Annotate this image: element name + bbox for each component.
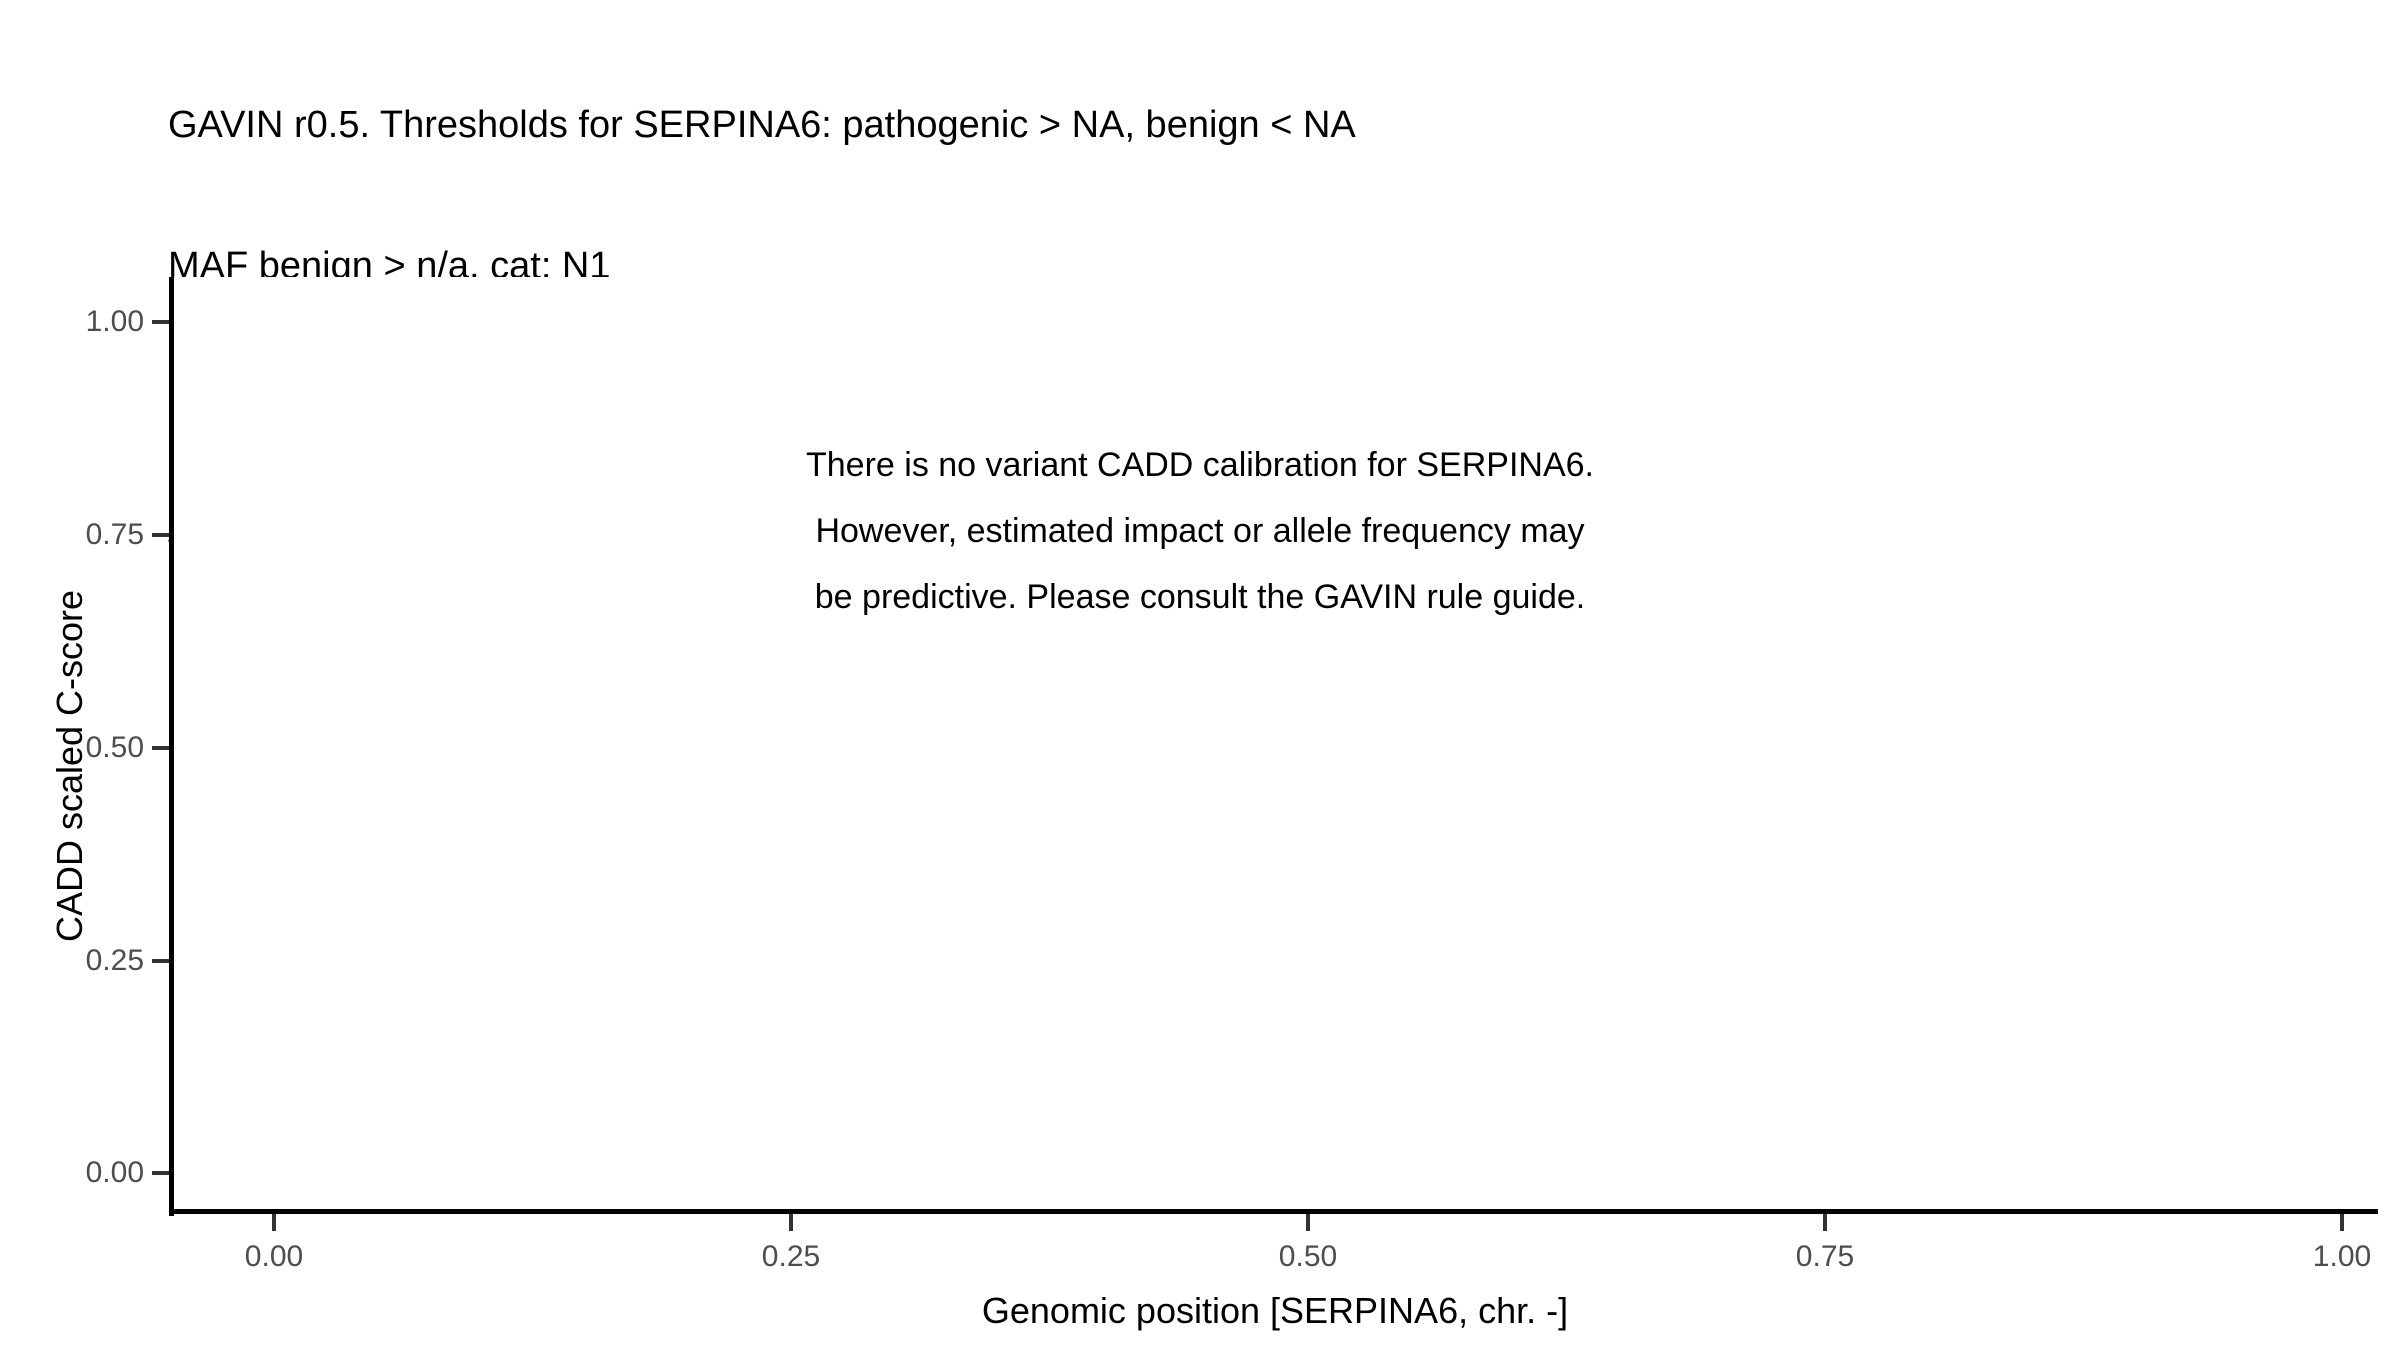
- x-axis-tick-label: 0.25: [691, 1240, 891, 1274]
- plot-annotation-line-2: However, estimated impact or allele freq…: [560, 498, 1840, 564]
- x-axis-tick-label: 1.00: [2242, 1240, 2400, 1274]
- x-axis-tick-label: 0.50: [1208, 1240, 1408, 1274]
- x-axis-tick-mark: [272, 1214, 276, 1231]
- chart-plot: GAVIN r0.5. Thresholds for SERPINA6: pat…: [0, 0, 2400, 1350]
- plot-panel: [172, 277, 2378, 1213]
- x-axis-title: Genomic position [SERPINA6, chr. -]: [172, 1290, 2378, 1332]
- y-axis-tick-mark: [152, 320, 169, 324]
- y-axis-tick-mark: [152, 1171, 169, 1175]
- x-axis-tick-mark: [1823, 1214, 1827, 1231]
- plot-annotation: There is no variant CADD calibration for…: [560, 432, 1840, 630]
- x-axis-tick-label: 0.75: [1725, 1240, 1925, 1274]
- x-axis-line: [169, 1209, 2378, 1214]
- y-axis-title: CADD scaled C-score: [49, 296, 91, 1236]
- chart-title-line-1: GAVIN r0.5. Thresholds for SERPINA6: pat…: [168, 102, 2348, 149]
- y-axis-tick-mark: [152, 746, 169, 750]
- y-axis-line: [169, 277, 174, 1216]
- y-axis-tick-mark: [152, 533, 169, 537]
- x-axis-tick-mark: [789, 1214, 793, 1231]
- plot-annotation-line-1: There is no variant CADD calibration for…: [560, 432, 1840, 498]
- x-axis-tick-mark: [1306, 1214, 1310, 1231]
- x-axis-tick-label: 0.00: [174, 1240, 374, 1274]
- x-axis-tick-mark: [2340, 1214, 2344, 1231]
- plot-annotation-line-3: be predictive. Please consult the GAVIN …: [560, 564, 1840, 630]
- y-axis-tick-mark: [152, 959, 169, 963]
